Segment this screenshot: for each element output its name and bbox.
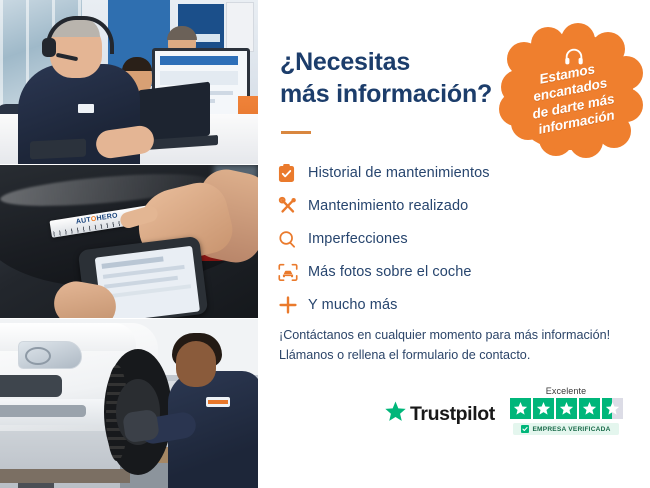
blurb-line-1: ¡Contáctanos en cualquier momento para m… <box>279 325 639 345</box>
agent-name-badge <box>78 104 94 113</box>
car-grille <box>0 375 62 397</box>
rating-stars <box>498 398 634 419</box>
trustpilot-logo[interactable]: Trustpilot <box>384 400 495 428</box>
verified-label: EMPRESA VERIFICADA <box>532 426 610 433</box>
rating-label: Excelente <box>498 386 634 396</box>
car-lift-arm <box>0 469 130 483</box>
feature-label: Mantenimiento realizado <box>308 198 468 214</box>
mechanic-wheel-photo <box>0 319 258 488</box>
car-lift-post <box>18 483 54 488</box>
magnifier-icon <box>278 228 308 250</box>
photo-collage: AUTOHERO <box>0 0 258 488</box>
list-item: Mantenimiento realizado <box>278 190 618 222</box>
wrench-screwdriver-icon <box>278 195 308 217</box>
feature-list: Historial de mantenimientos Mantenimient… <box>278 157 618 322</box>
car-headlight <box>18 341 82 369</box>
car-inspection-ruler-photo: AUTOHERO <box>0 165 258 318</box>
call-center-agents-photo <box>0 0 258 164</box>
star-5-half <box>602 398 623 419</box>
car-scan-icon <box>278 261 308 283</box>
support-badge: Estamos encantados de darte más informac… <box>501 28 641 156</box>
content-panel: ¿Necesitas más información? <box>258 0 650 488</box>
page-title: ¿Necesitas más información? <box>280 47 492 110</box>
feature-label: Más fotos sobre el coche <box>308 264 472 280</box>
mechanic-head <box>176 341 216 387</box>
plus-icon <box>278 294 308 316</box>
feature-label: Y mucho más <box>308 297 397 313</box>
feature-label: Imperfecciones <box>308 231 408 247</box>
promo-card: AUTOHERO <box>0 0 650 488</box>
mechanic-glove <box>122 409 160 443</box>
car-lower-grille <box>0 405 86 417</box>
trustpilot-star-icon <box>384 400 407 428</box>
star-1 <box>510 398 531 419</box>
verified-check-icon <box>521 425 529 433</box>
trustpilot-rating: Excelente EMPRESA VERIFICADA <box>498 386 634 435</box>
list-item: Historial de mantenimientos <box>278 157 618 189</box>
feature-label: Historial de mantenimientos <box>308 165 490 181</box>
title-divider <box>281 131 311 134</box>
desk-tablet <box>30 139 86 160</box>
star-4 <box>579 398 600 419</box>
wall-poster-secondary <box>226 2 254 52</box>
agent-headset-cup <box>42 38 56 57</box>
headline-line-1: ¿Necesitas <box>280 48 410 76</box>
clipboard-check-icon <box>278 162 308 184</box>
trustpilot-widget[interactable]: Trustpilot Excelente EMPRESA VERIFICADA <box>384 386 634 448</box>
status-badge: EMPRESA VERIFICADA <box>513 423 619 435</box>
headline-line-2: más información? <box>280 80 492 108</box>
list-item: Imperfecciones <box>278 223 618 255</box>
trustpilot-wordmark: Trustpilot <box>410 403 495 426</box>
contact-blurb: ¡Contáctanos en cualquier momento para m… <box>279 325 639 366</box>
star-2 <box>533 398 554 419</box>
list-item: Más fotos sobre el coche <box>278 256 618 288</box>
mechanic-uniform-logo <box>206 397 230 407</box>
star-3 <box>556 398 577 419</box>
blurb-line-2: Llámanos o rellena el formulario de cont… <box>279 345 639 365</box>
list-item: Y mucho más <box>278 289 618 321</box>
